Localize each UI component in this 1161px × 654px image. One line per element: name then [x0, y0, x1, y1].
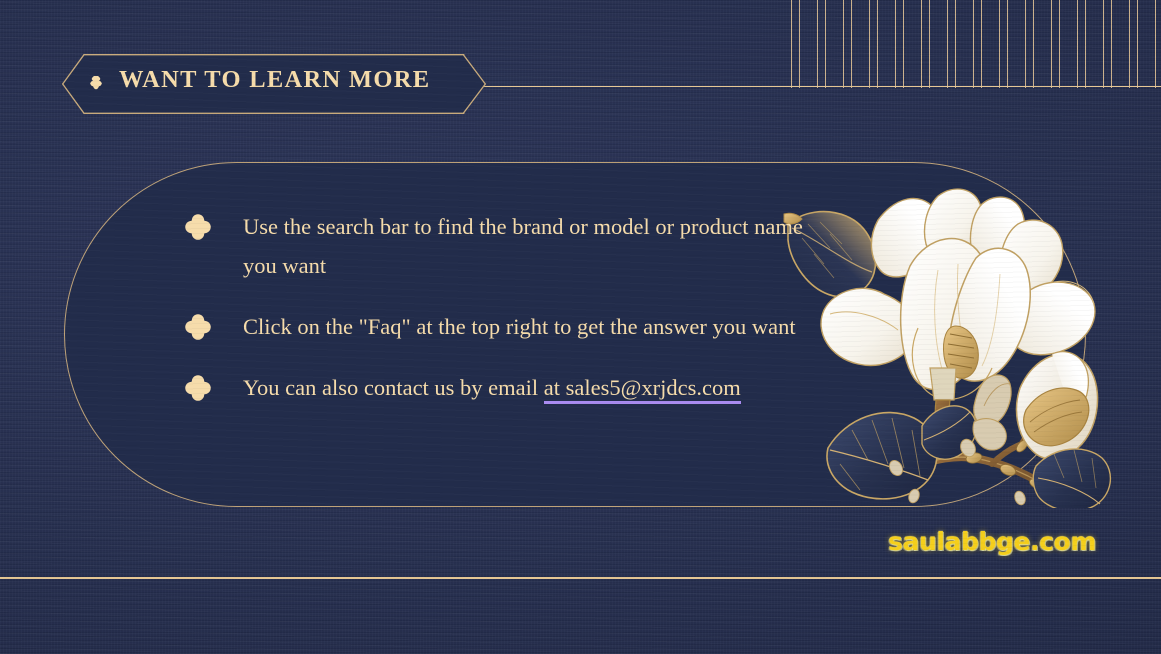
list-item-text-prefix: You can also contact us by email: [243, 375, 544, 400]
page-title: WANT TO LEARN MORE: [119, 66, 430, 94]
top-horizontal-gold-rule: [481, 86, 1161, 87]
quatrefoil-diamond-icon: [88, 76, 104, 92]
list-item: Use the search bar to find the brand or …: [183, 207, 823, 285]
list-item-text: Use the search bar to find the brand or …: [243, 207, 803, 285]
bottom-horizontal-gold-rule: [0, 577, 1161, 579]
slide-canvas: WANT TO LEARN MORE: [0, 0, 1161, 654]
vertical-gold-lines-decoration: [791, 0, 1161, 88]
instruction-list: Use the search bar to find the brand or …: [183, 207, 823, 407]
site-watermark: saulabbge.com: [888, 527, 1096, 556]
quatrefoil-bullet-icon: [183, 312, 213, 342]
quatrefoil-bullet-icon: [183, 373, 213, 403]
quatrefoil-bullet-icon: [183, 212, 213, 242]
list-item: You can also contact us by email at sale…: [183, 368, 823, 407]
list-item-text: You can also contact us by email at sale…: [243, 368, 741, 407]
list-item-text: Click on the "Faq" at the top right to g…: [243, 307, 796, 346]
email-link[interactable]: at sales5@xrjdcs.com: [544, 375, 741, 404]
list-item: Click on the "Faq" at the top right to g…: [183, 307, 823, 346]
